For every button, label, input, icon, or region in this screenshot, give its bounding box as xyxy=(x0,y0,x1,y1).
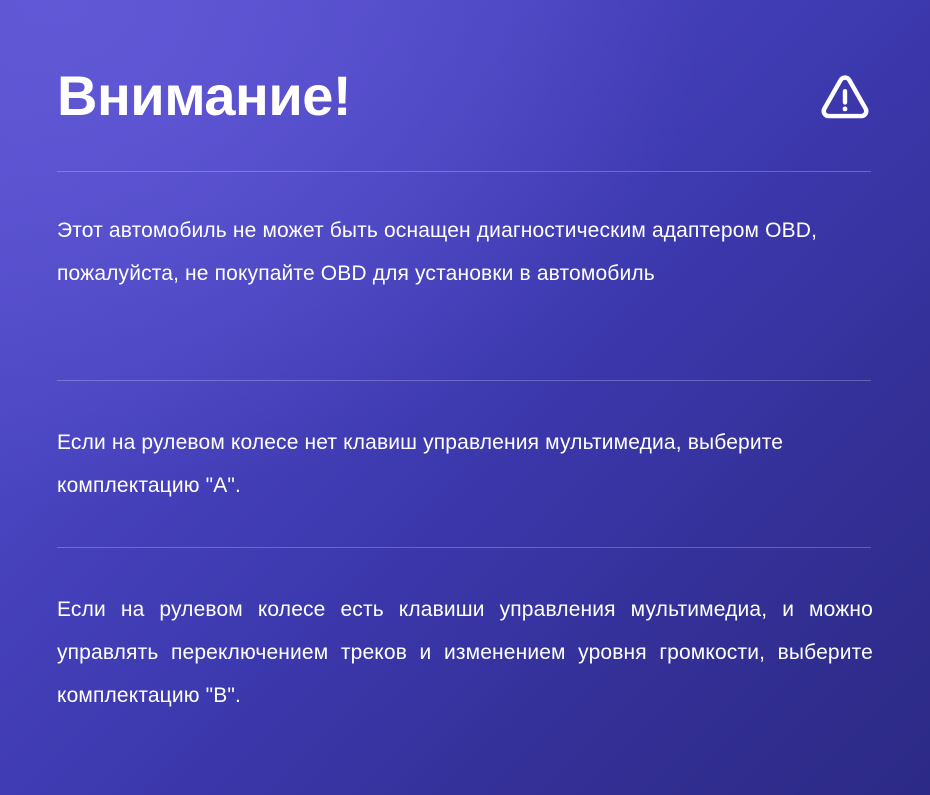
banner-header: Внимание! xyxy=(57,48,873,144)
divider-3 xyxy=(57,547,871,548)
divider-2 xyxy=(57,380,871,381)
warning-banner: Внимание! Этот автомобиль не может быть … xyxy=(0,0,930,795)
notice-block-obd-not-supported: Этот автомобиль не может быть оснащен ди… xyxy=(57,209,873,295)
notice-text: Этот автомобиль не может быть оснащен ди… xyxy=(57,209,873,295)
divider-1 xyxy=(57,171,871,172)
notice-text: Если на рулевом колесе есть клавиши упра… xyxy=(57,588,873,717)
notice-block-variant-b: Если на рулевом колесе есть клавиши упра… xyxy=(57,588,873,717)
notice-block-variant-a: Если на рулевом колесе нет клавиш управл… xyxy=(57,421,873,507)
warning-triangle-icon xyxy=(817,69,873,125)
page-title: Внимание! xyxy=(57,48,351,144)
notice-text: Если на рулевом колесе нет клавиш управл… xyxy=(57,421,873,507)
